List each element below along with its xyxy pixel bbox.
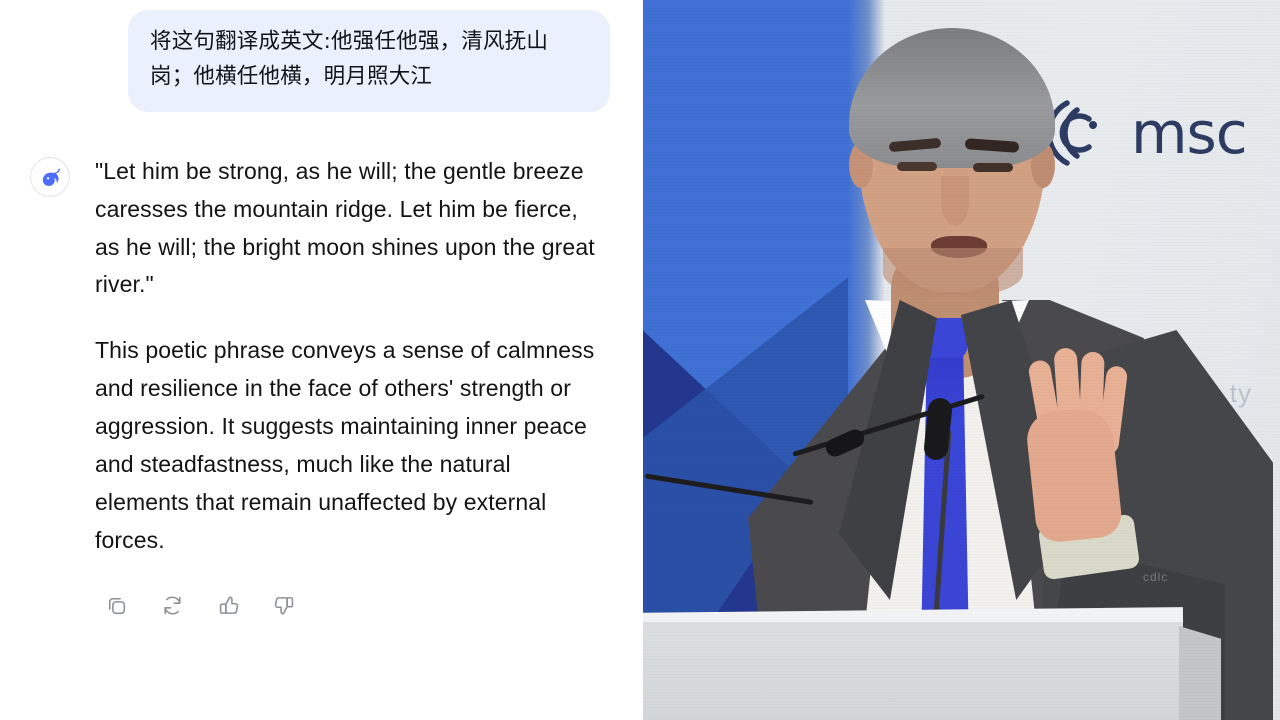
msc-logo-text: msc	[1131, 99, 1247, 167]
thumbs-down-button[interactable]	[269, 590, 299, 620]
regenerate-icon	[160, 593, 185, 618]
assistant-avatar	[30, 157, 70, 197]
news-photo: msc ty	[643, 0, 1280, 720]
deepseek-whale-icon	[37, 164, 63, 190]
speaker-eye-right	[973, 163, 1013, 172]
photo-stage: msc ty	[643, 0, 1280, 720]
speaker-jaw-shadow	[883, 248, 1023, 298]
assistant-response: "Let him be strong, as he will; the gent…	[95, 153, 603, 620]
thumbs-up-button[interactable]	[213, 590, 243, 620]
regenerate-button[interactable]	[157, 590, 187, 620]
response-paragraph-2: This poetic phrase conveys a sense of ca…	[95, 332, 603, 560]
user-message-row: 将这句翻译成英文:他强任他强，清风抚山岗；他横任他横，明月照大江	[0, 0, 643, 112]
response-paragraph-1: "Let him be strong, as he will; the gent…	[95, 153, 603, 305]
speaker-hand	[1024, 406, 1123, 544]
copy-icon	[104, 593, 129, 618]
podium-face	[643, 622, 1183, 720]
chat-panel: 将这句翻译成英文:他强任他强，清风抚山岗；他横任他横，明月照大江 "Let hi…	[0, 0, 643, 720]
thumbs-down-icon	[272, 593, 297, 618]
message-actions	[101, 590, 603, 620]
speaker-eye-left	[897, 162, 937, 171]
app-root: 将这句翻译成英文:他强任他强，清风抚山岗；他横任他横，明月照大江 "Let hi…	[0, 0, 1280, 720]
podium-side	[1179, 626, 1221, 720]
backdrop-faint-text: ty	[1230, 378, 1252, 409]
copy-button[interactable]	[101, 590, 131, 620]
assistant-message-row: "Let him be strong, as he will; the gent…	[0, 112, 643, 620]
msc-logo: msc	[1041, 95, 1247, 171]
cuff-logo-text: cdlc	[1143, 570, 1183, 586]
thumbs-up-icon	[216, 593, 241, 618]
user-message-bubble: 将这句翻译成英文:他强任他强，清风抚山岗；他横任他横，明月照大江	[128, 10, 610, 112]
speaker-nose	[941, 176, 969, 226]
